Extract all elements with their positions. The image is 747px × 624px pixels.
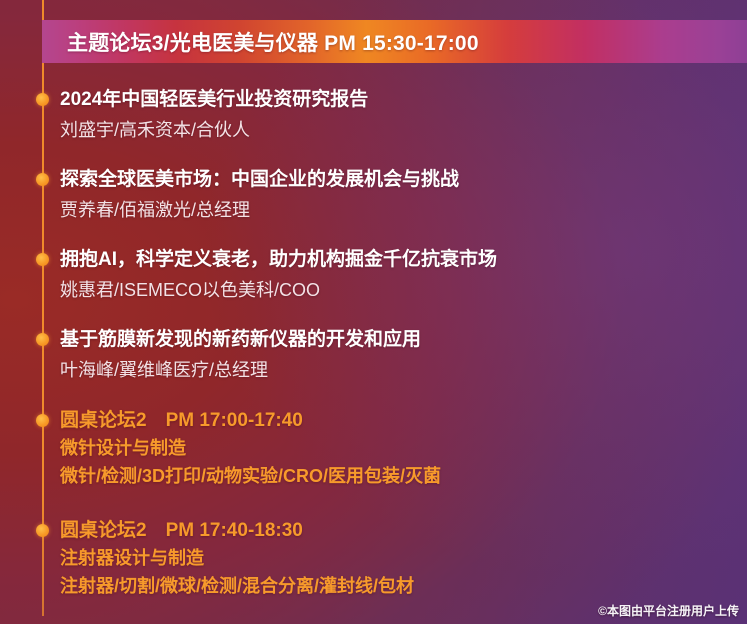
roundtable-title: 圆桌论坛2 PM 17:00-17:40 (60, 407, 441, 434)
session-item-6-roundtable[interactable]: 圆桌论坛2 PM 17:40-18:30 注射器设计与制造 注射器/切割/微球/… (60, 517, 414, 600)
session-speaker: 刘盛宇/高禾资本/合伙人 (60, 117, 368, 144)
roundtable-keywords: 注射器/切割/微球/检测/混合分离/灌封线/包材 (60, 572, 414, 600)
session-speaker: 叶海峰/翼维峰医疗/总经理 (60, 357, 421, 384)
roundtable-topic: 微针设计与制造 (60, 434, 441, 462)
session-item-4[interactable]: 基于筋膜新发现的新药新仪器的开发和应用 叶海峰/翼维峰医疗/总经理 (60, 326, 421, 384)
session-list: 2024年中国轻医美行业投资研究报告 刘盛宇/高禾资本/合伙人 探索全球医美市场… (0, 0, 747, 624)
session-speaker: 姚惠君/ISEMECO以色美科/COO (60, 277, 497, 304)
session-item-2[interactable]: 探索全球医美市场：中国企业的发展机会与挑战 贾养春/佰福激光/总经理 (60, 166, 459, 224)
poster-canvas: 主题论坛3/光电医美与仪器 PM 15:30-17:00 2024年中国轻医美行… (0, 0, 747, 624)
session-item-3[interactable]: 拥抱AI，科学定义衰老，助力机构掘金千亿抗衰市场 姚惠君/ISEMECO以色美科… (60, 246, 497, 304)
roundtable-title: 圆桌论坛2 PM 17:40-18:30 (60, 517, 414, 544)
session-title: 拥抱AI，科学定义衰老，助力机构掘金千亿抗衰市场 (60, 246, 497, 273)
session-title: 探索全球医美市场：中国企业的发展机会与挑战 (60, 166, 459, 193)
watermark-text: ©本图由平台注册用户上传 (598, 602, 739, 619)
forum-header-title: 主题论坛3/光电医美与仪器 PM 15:30-17:00 (67, 27, 479, 57)
session-speaker: 贾养春/佰福激光/总经理 (60, 197, 459, 224)
session-item-5-roundtable[interactable]: 圆桌论坛2 PM 17:00-17:40 微针设计与制造 微针/检测/3D打印/… (60, 407, 441, 490)
session-title: 基于筋膜新发现的新药新仪器的开发和应用 (60, 326, 421, 353)
forum-header-banner: 主题论坛3/光电医美与仪器 PM 15:30-17:00 (42, 20, 747, 63)
session-item-1[interactable]: 2024年中国轻医美行业投资研究报告 刘盛宇/高禾资本/合伙人 (60, 86, 368, 144)
session-title: 2024年中国轻医美行业投资研究报告 (60, 86, 368, 113)
roundtable-topic: 注射器设计与制造 (60, 544, 414, 572)
roundtable-keywords: 微针/检测/3D打印/动物实验/CRO/医用包装/灭菌 (60, 462, 441, 490)
